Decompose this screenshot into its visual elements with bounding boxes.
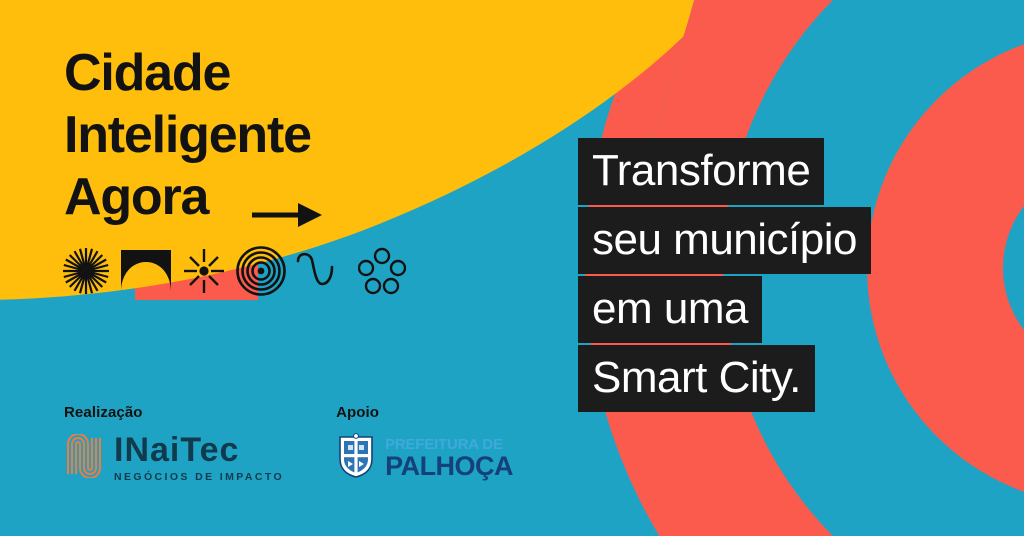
- arch-icon: [120, 249, 172, 298]
- promo-banner: Cidade Inteligente Agora: [0, 0, 1024, 536]
- promo-line-4: Smart City.: [578, 345, 815, 412]
- headline: Cidade Inteligente Agora: [64, 42, 324, 228]
- inaitec-tagline: NEGÓCIOS DE IMPACTO: [114, 470, 284, 484]
- inaitec-wordmark-group: INaiTec NEGÓCIOS DE IMPACTO: [114, 433, 284, 484]
- palhoca-wordmark-group: PREFEITURA DE PALHOÇA: [385, 437, 513, 480]
- palhoca-line-2: PALHOÇA: [385, 453, 513, 480]
- credits-row: Realização INaiTec NEGÓCIOS: [64, 404, 513, 484]
- headline-line-3-row: Agora: [64, 166, 324, 228]
- headline-line-3: Agora: [64, 166, 208, 228]
- concentric-target-icon: [236, 246, 286, 301]
- decorative-icon-row: [62, 246, 406, 301]
- wave-curve-icon: [296, 251, 348, 296]
- sunburst-icon: [62, 247, 110, 300]
- palhoca-coat-of-arms-icon: [336, 433, 376, 484]
- realizacao-label: Realização: [64, 404, 284, 421]
- left-panel: Cidade Inteligente Agora: [0, 0, 560, 536]
- promo-line-3: em uma: [578, 276, 762, 343]
- credit-apoio: Apoio: [336, 404, 513, 484]
- credit-realizacao: Realização INaiTec NEGÓCIOS: [64, 404, 284, 484]
- apoio-label: Apoio: [336, 404, 513, 421]
- promo-line-2: seu município: [578, 207, 871, 274]
- inaitec-n-monogram-icon: [64, 434, 104, 483]
- promo-line-1: Transforme: [578, 138, 824, 205]
- asterisk-sun-icon: [182, 247, 226, 300]
- inaitec-wordmark: INaiTec: [114, 433, 239, 467]
- palhoca-logo[interactable]: PREFEITURA DE PALHOÇA: [336, 433, 513, 484]
- promo-text-block: Transforme seu município em uma Smart Ci…: [578, 138, 871, 414]
- inaitec-logo[interactable]: INaiTec NEGÓCIOS DE IMPACTO: [64, 433, 284, 484]
- arrow-right-icon: [250, 182, 324, 212]
- headline-line-2: Inteligente: [64, 104, 324, 166]
- headline-line-1: Cidade: [64, 42, 324, 104]
- dot-cluster-icon: [358, 247, 406, 300]
